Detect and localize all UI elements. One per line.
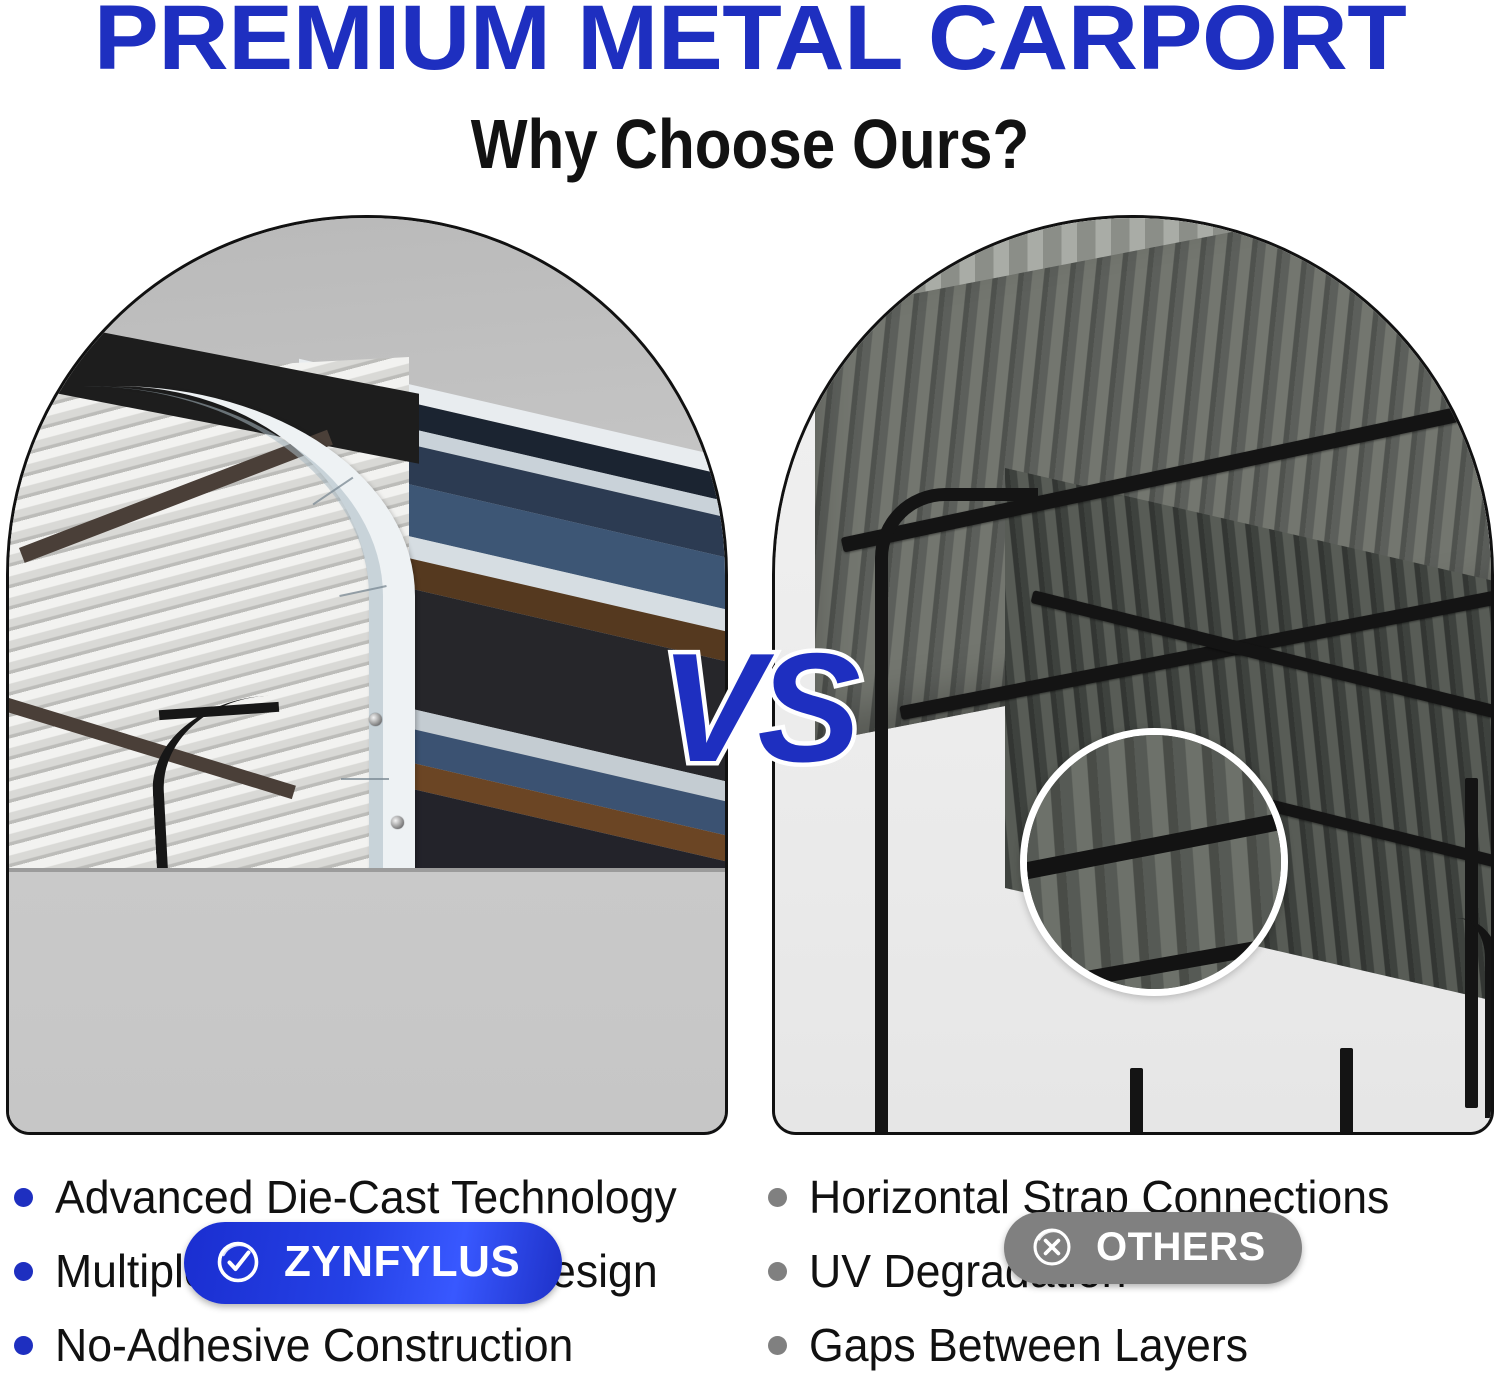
bullet-dot-icon xyxy=(768,1336,787,1355)
feature-label: Gaps Between Layers xyxy=(809,1318,1248,1372)
ours-photo xyxy=(9,218,725,1132)
page-subtitle: Why Choose Ours? xyxy=(105,104,1395,184)
versus-mark: VS xyxy=(660,630,855,785)
list-item: No-Adhesive Construction xyxy=(14,1308,734,1382)
bolt xyxy=(391,816,404,829)
feature-label: No-Adhesive Construction xyxy=(55,1318,573,1372)
bullet-dot-icon xyxy=(14,1262,33,1281)
check-circle-icon xyxy=(214,1238,262,1286)
badge-ours[interactable]: ZYNFYLUS xyxy=(184,1222,562,1304)
feature-label: Advanced Die-Cast Technology xyxy=(55,1170,677,1224)
others-photo xyxy=(775,218,1491,1132)
badge-others-label: OTHERS xyxy=(1096,1227,1266,1267)
bolt xyxy=(369,713,382,726)
magnifier-inset xyxy=(1020,728,1288,996)
x-circle-icon xyxy=(1030,1225,1074,1269)
concrete-floor xyxy=(9,872,725,1132)
bullet-dot-icon xyxy=(14,1336,33,1355)
frame-corner xyxy=(875,488,1038,651)
page-title: PREMIUM METAL CARPORT xyxy=(0,0,1500,91)
frame-leg xyxy=(1340,1048,1353,1132)
beam-seam xyxy=(341,778,389,780)
frame-leg xyxy=(875,618,888,1132)
bullet-dot-icon xyxy=(14,1188,33,1207)
frame-leg xyxy=(1130,1068,1143,1132)
bullet-dot-icon xyxy=(768,1188,787,1207)
badge-others[interactable]: OTHERS xyxy=(1004,1212,1302,1284)
list-item: Gaps Between Layers xyxy=(768,1308,1488,1382)
comparison-panel-others xyxy=(772,215,1494,1135)
bullet-dot-icon xyxy=(768,1262,787,1281)
frame-leg-curved xyxy=(1395,918,1491,1118)
comparison-panel-ours xyxy=(6,215,728,1135)
badge-ours-label: ZYNFYLUS xyxy=(284,1240,520,1284)
